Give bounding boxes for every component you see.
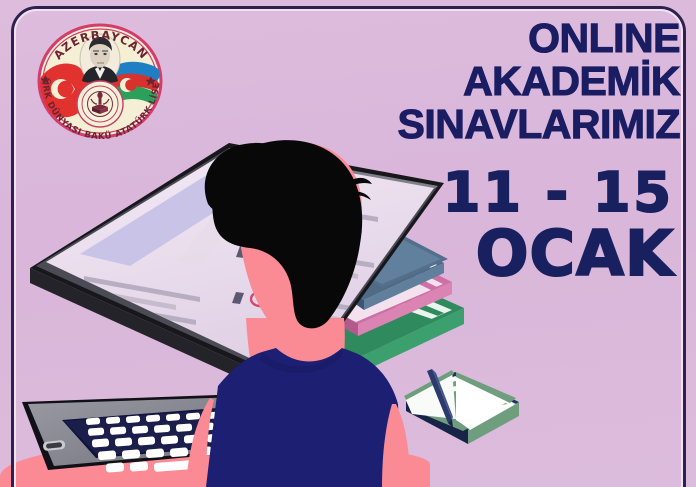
- headline-line-1: ONLINE: [360, 18, 680, 60]
- headline-line-3: SINAVLARIMIZ: [360, 104, 680, 146]
- school-logo: AZERBAYCAN TÜRK DÜNYASI BAKÜ ATATÜRK LİS…: [27, 19, 174, 141]
- headline-block: ONLINE AKADEMİK SINAVLARIMIZ: [360, 18, 680, 145]
- open-notebook-group: [404, 369, 519, 444]
- dateline-block: 11 - 15 OCAK: [374, 166, 674, 285]
- headline-line-2: AKADEMİK: [360, 61, 680, 103]
- poster-canvas: AZERBAYCAN TÜRK DÜNYASI BAKÜ ATATÜRK LİS…: [0, 0, 696, 487]
- dateline-range: 11 - 15: [374, 166, 674, 220]
- dateline-month: OCAK: [374, 223, 674, 285]
